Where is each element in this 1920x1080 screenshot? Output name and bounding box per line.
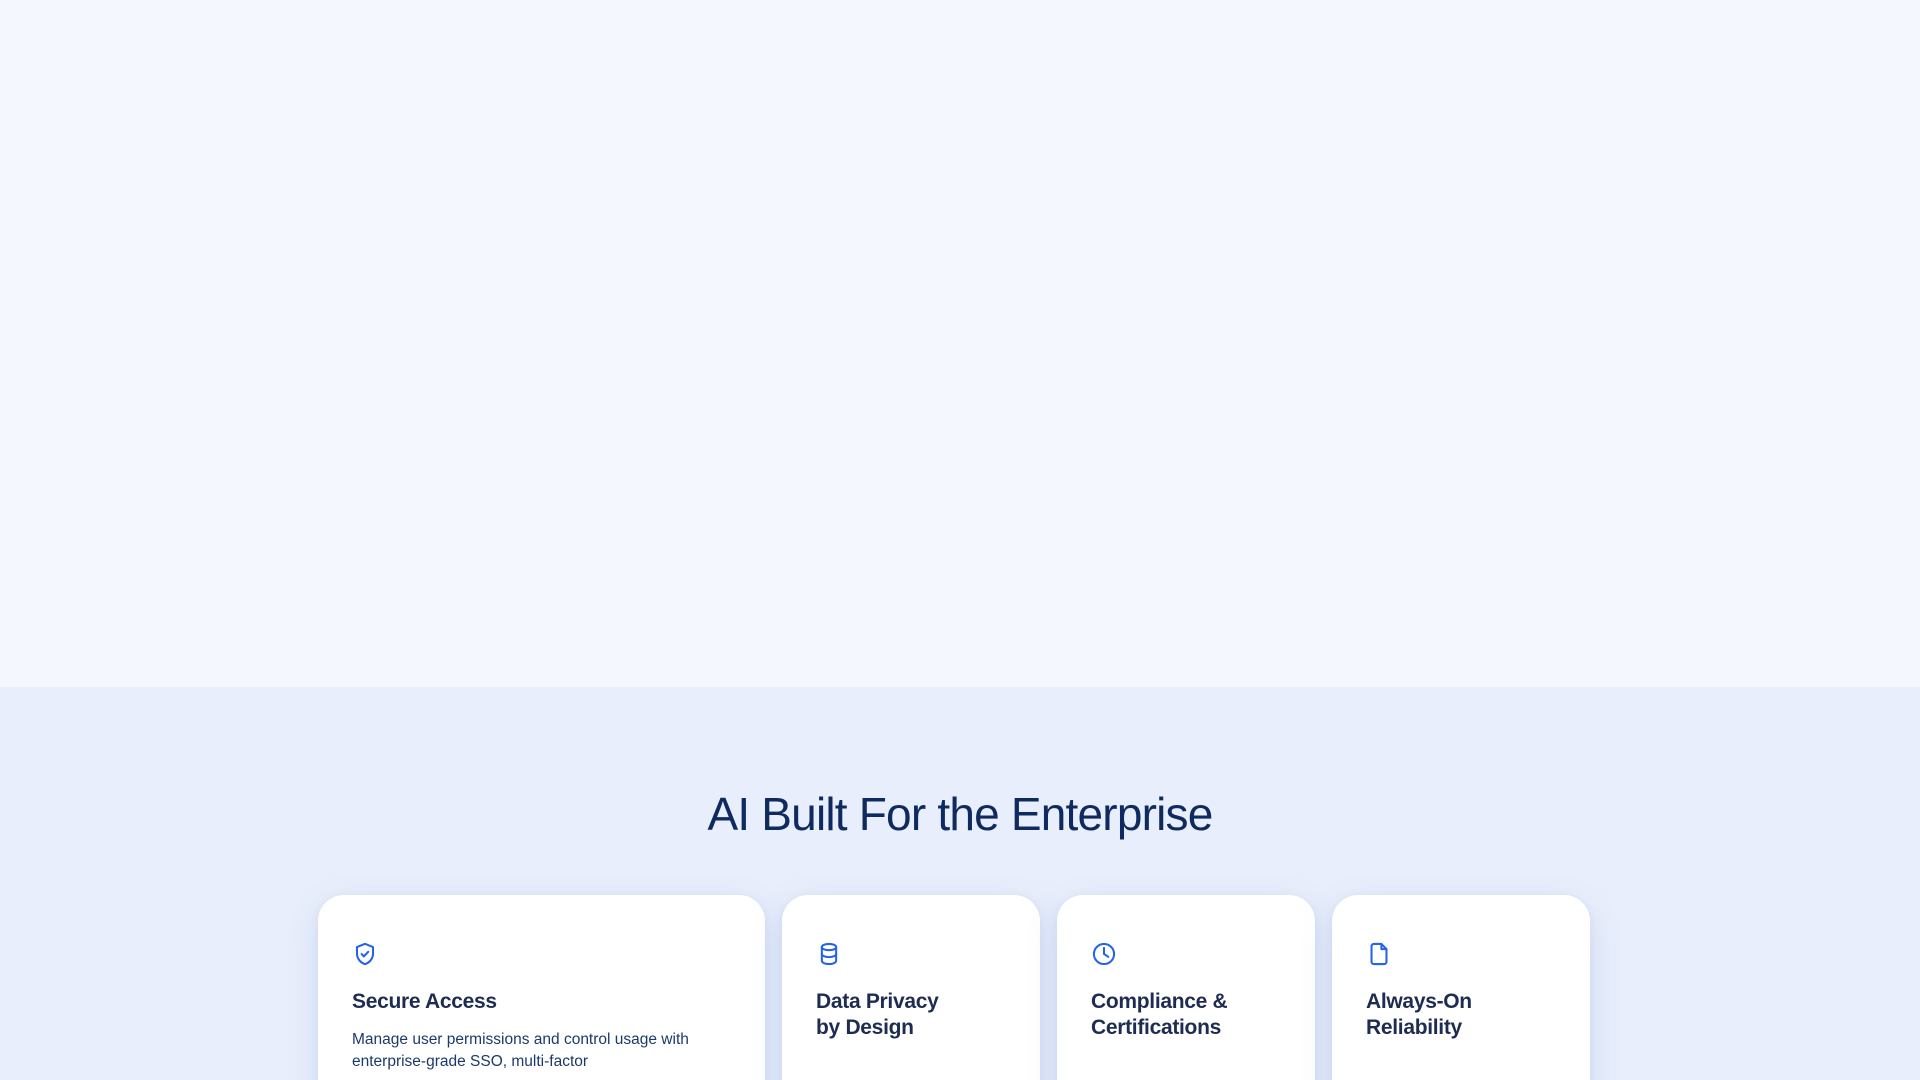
page-title: AI Built For the Enterprise bbox=[0, 787, 1920, 841]
feature-card-title: Always-On Reliability bbox=[1366, 989, 1556, 1040]
shield-check-icon bbox=[352, 941, 378, 967]
enterprise-section: AI Built For the Enterprise Secure Acces… bbox=[0, 687, 1920, 1080]
database-icon bbox=[816, 941, 842, 967]
feature-card-secure-access[interactable]: Secure Access Manage user permissions an… bbox=[318, 895, 765, 1080]
document-icon bbox=[1366, 941, 1392, 967]
feature-card-row: Secure Access Manage user permissions an… bbox=[318, 895, 1602, 1080]
feature-card-description: Manage user permissions and control usag… bbox=[352, 1029, 712, 1075]
feature-card-reliability[interactable]: Always-On Reliability bbox=[1332, 895, 1590, 1080]
clock-icon bbox=[1091, 941, 1117, 967]
feature-card-title: Secure Access bbox=[352, 989, 731, 1015]
page-root: AI Built For the Enterprise Secure Acces… bbox=[0, 0, 1920, 1080]
feature-card-data-privacy[interactable]: Data Privacy by Design bbox=[782, 895, 1040, 1080]
feature-card-title: Compliance & Certifications bbox=[1091, 989, 1281, 1040]
feature-card-title: Data Privacy by Design bbox=[816, 989, 1006, 1040]
hero-panel bbox=[0, 0, 1920, 687]
feature-card-compliance[interactable]: Compliance & Certifications bbox=[1057, 895, 1315, 1080]
